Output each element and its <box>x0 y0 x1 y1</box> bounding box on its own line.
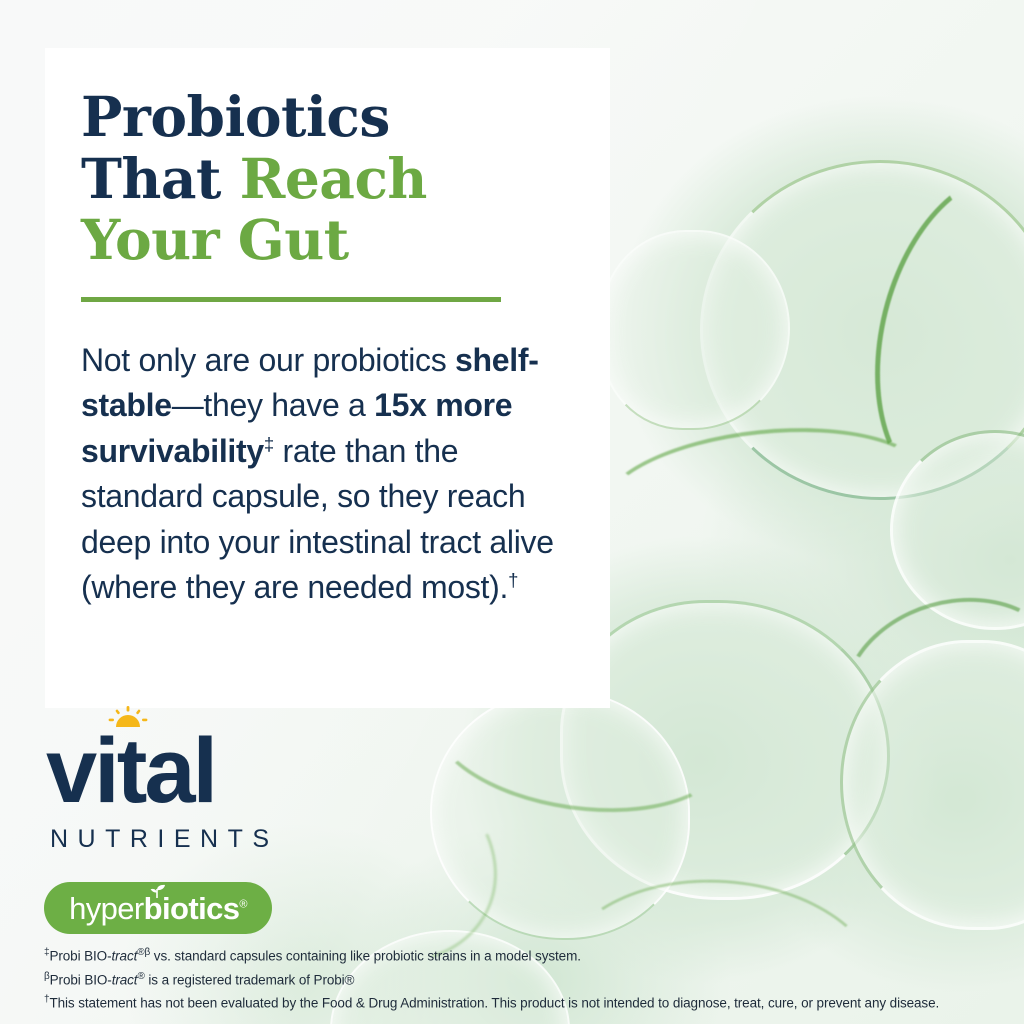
footnotes-block: ‡Probi BIO-tract®β vs. standard capsules… <box>44 944 1019 1015</box>
footnote-row: †This statement has not been evaluated b… <box>44 991 1019 1015</box>
vital-wordmark: vital <box>46 728 346 815</box>
footnote-italic: tract <box>111 949 137 964</box>
hyperbiotics-logo: hyperbiotics® <box>44 882 272 934</box>
footnote-row: ‡Probi BIO-tract®β vs. standard capsules… <box>44 944 1019 968</box>
footnote-post: is a registered trademark of Probi® <box>145 972 355 987</box>
footnote-sups: ® <box>137 971 144 982</box>
body-paragraph: Not only are our probiotics shelf-stable… <box>81 338 568 611</box>
headline-line-2-navy: That <box>81 146 240 211</box>
footnote-italic: tract <box>112 972 138 987</box>
registered-mark: ® <box>239 898 247 910</box>
footnote-sups: ®β <box>137 947 150 958</box>
advertisement-canvas: Probiotics That Reach Your Gut Not only … <box>0 0 1024 1024</box>
content-card: Probiotics That Reach Your Gut Not only … <box>45 48 610 708</box>
footnote-post: vs. standard capsules containing like pr… <box>150 949 581 964</box>
footnote-row: βProbi BIO-tract® is a registered tradem… <box>44 968 1019 992</box>
footnote-pre: Probi BIO- <box>49 949 111 964</box>
vital-nutrients-logo: vital NUTRIENTS <box>46 728 346 854</box>
body-segment-1: Not only are our probiotics <box>81 342 455 378</box>
vital-text: vital <box>46 720 215 822</box>
footnote-post: This statement has not been evaluated by… <box>49 996 939 1011</box>
headline-line-3-green: Your Gut <box>81 207 349 272</box>
body-segment-3: —they have a <box>172 387 374 423</box>
footnote-ref-double-dagger: ‡ <box>264 433 274 454</box>
hyperbiotics-wordmark: hyperbiotics® <box>69 893 247 924</box>
divider-rule <box>81 297 501 302</box>
gel-bubble <box>600 230 790 430</box>
sunburst-icon <box>108 706 148 728</box>
page-title: Probiotics That Reach Your Gut <box>81 86 568 271</box>
hyper-prefix: hyper <box>69 891 144 926</box>
footnote-pre: Probi BIO- <box>50 972 112 987</box>
headline-line-1: Probiotics <box>81 84 390 149</box>
footnote-ref-dagger: † <box>508 569 518 590</box>
leaf-sprout-icon <box>147 884 167 898</box>
headline-line-2-green: Reach <box>240 146 427 211</box>
nutrients-subtitle: NUTRIENTS <box>50 825 346 854</box>
